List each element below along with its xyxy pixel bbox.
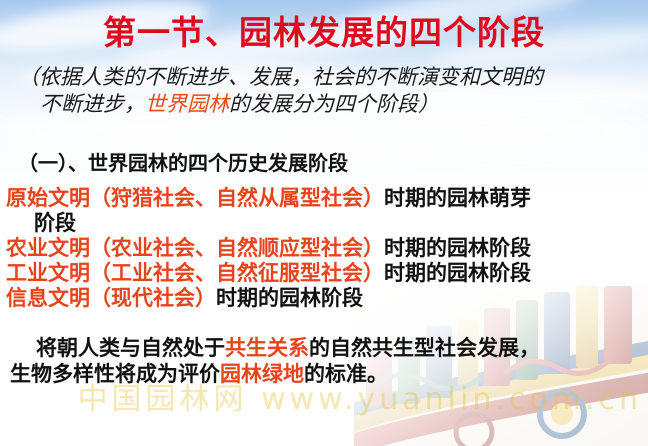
list-item: 原始文明（狩猎社会、自然从属型社会）时期的园林萌芽阶段 (6, 186, 646, 236)
closing-l2-highlight: 园林绿地 (220, 363, 304, 386)
stage-list: 原始文明（狩猎社会、自然从属型社会）时期的园林萌芽阶段 农业文明（农业社会、自然… (6, 186, 646, 311)
subtitle-line-2: 不断进步，世界园林的发展分为四个阶段） (18, 91, 634, 118)
presentation-slide: 中国园林网 www.yuanlin.com.cn 第一节、园林发展的四个阶段 （… (0, 0, 648, 446)
list-item: 工业文明（工业社会、自然征服型社会）时期的园林阶段 (6, 261, 646, 286)
subtitle-line-1: （依据人类的不断进步、发展，社会的不断演变和文明的 (18, 65, 543, 89)
stage-desc: 时期的园林阶段 (216, 287, 363, 310)
closing-line-2: 生物多样性将成为评价园林绿地的标准。 (6, 362, 646, 388)
closing-l1-highlight: 共生关系 (225, 337, 309, 360)
list-item: 信息文明（现代社会）时期的园林阶段 (6, 286, 646, 311)
subtitle-line2-before: 不断进步， (40, 92, 145, 116)
stage-name: 原始文明（狩猎社会、自然从属型社会） (6, 187, 384, 210)
stage-name: 信息文明（现代社会） (6, 287, 216, 310)
closing-l2-before: 生物多样性将成为评价 (10, 363, 220, 386)
closing-paragraph: 将朝人类与自然处于共生关系的自然共生型社会发展， 生物多样性将成为评价园林绿地的… (6, 336, 646, 388)
subtitle-line2-after: 的发展分为四个阶段） (229, 92, 439, 116)
closing-l1-after: 的自然共生型社会发展， (309, 337, 540, 360)
closing-line-1: 将朝人类与自然处于共生关系的自然共生型社会发展， (6, 336, 646, 362)
stage-desc: 时期的园林阶段 (384, 262, 531, 285)
stage-desc-continuation: 阶段 (6, 211, 646, 236)
page-title: 第一节、园林发展的四个阶段 (0, 14, 648, 54)
stage-name: 工业文明（工业社会、自然征服型社会） (6, 262, 384, 285)
stage-desc: 时期的园林阶段 (384, 237, 531, 260)
subtitle-highlight: 世界园林 (145, 92, 229, 116)
list-item: 农业文明（农业社会、自然顺应型社会）时期的园林阶段 (6, 236, 646, 261)
closing-l2-after: 的标准。 (304, 363, 388, 386)
stage-name: 农业文明（农业社会、自然顺应型社会） (6, 237, 384, 260)
closing-l1-before: 将朝人类与自然处于 (36, 337, 225, 360)
subtitle-paragraph: （依据人类的不断进步、发展，社会的不断演变和文明的 不断进步，世界园林的发展分为… (18, 64, 634, 118)
stage-desc: 时期的园林萌芽 (384, 187, 531, 210)
section-heading: （一）、世界园林的四个历史发展阶段 (18, 151, 348, 177)
slide-content: 第一节、园林发展的四个阶段 （依据人类的不断进步、发展，社会的不断演变和文明的 … (0, 0, 648, 446)
